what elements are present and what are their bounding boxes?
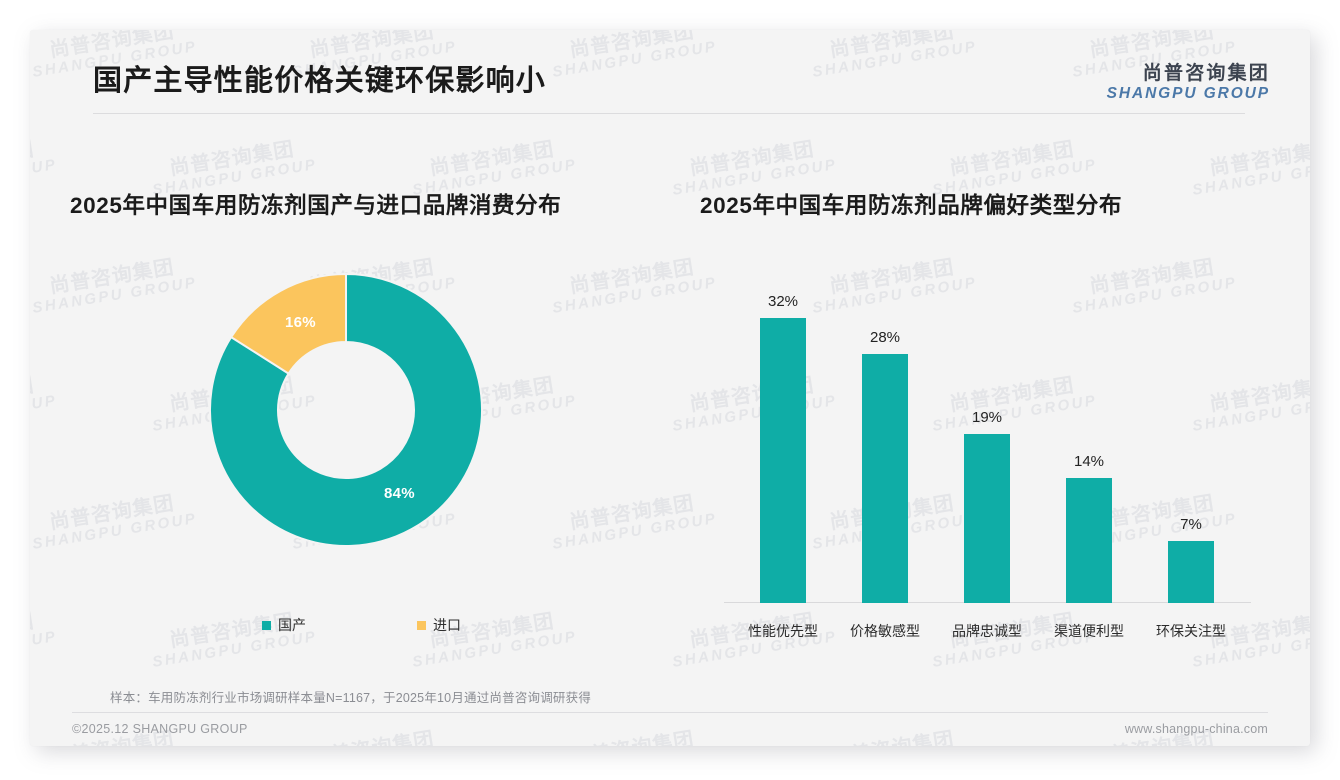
- bar-category-slot: 渠道便利型: [1038, 605, 1140, 665]
- bar-column: 7%: [1140, 265, 1242, 603]
- slide-header: 国产主导性能价格关键环保影响小 尚普咨询集团 SHANGPU GROUP: [30, 30, 1310, 120]
- bar-category-label: 环保关注型: [1140, 621, 1242, 641]
- charts-area: 2025年中国车用防冻剂国产与进口品牌消费分布 84%16% 国产进口 2025…: [30, 160, 1310, 680]
- donut-chart: 84%16%: [206, 270, 486, 550]
- donut-chart-svg: [206, 270, 486, 550]
- chart-panel-bars: 2025年中国车用防冻剂品牌偏好类型分布 32%性能优先型28%价格敏感型19%…: [690, 160, 1270, 680]
- bar-column: 14%: [1038, 265, 1140, 603]
- donut-chart-title: 2025年中国车用防冻剂国产与进口品牌消费分布: [70, 188, 561, 220]
- donut-value-label-国产: 84%: [384, 485, 415, 502]
- bar-品牌忠诚型[interactable]: [964, 434, 1010, 603]
- sample-footnote: 样本：车用防冻剂行业市场调研样本量N=1167，于2025年10月通过尚普咨询调…: [110, 687, 591, 706]
- bar-category-slot: 性能优先型: [732, 605, 834, 665]
- bar-category-slot: 价格敏感型: [834, 605, 936, 665]
- bar-category-label: 渠道便利型: [1038, 621, 1140, 641]
- brand-logo: 尚普咨询集团 SHANGPU GROUP: [1107, 63, 1270, 102]
- legend-swatch-icon: [417, 621, 426, 630]
- bar-value-label: 28%: [834, 329, 936, 346]
- bar-渠道便利型[interactable]: [1066, 478, 1112, 603]
- bar-column: 28%: [834, 265, 936, 603]
- bar-性能优先型[interactable]: [760, 318, 806, 603]
- bar-category-slot: 环保关注型: [1140, 605, 1242, 665]
- bar-column: 19%: [936, 265, 1038, 603]
- bar-category-label: 品牌忠诚型: [936, 621, 1038, 641]
- bar-value-label: 32%: [732, 293, 834, 310]
- legend-label: 国产: [278, 615, 306, 635]
- bar-chart-title: 2025年中国车用防冻剂品牌偏好类型分布: [700, 188, 1122, 220]
- chart-panel-donut: 2025年中国车用防冻剂国产与进口品牌消费分布 84%16% 国产进口: [70, 160, 670, 680]
- slide-card: 尚普咨询集团SHANGPU GROUP尚普咨询集团SHANGPU GROUP尚普…: [30, 30, 1310, 746]
- slide-footer: ©2025.12 SHANGPU GROUP www.shangpu-china…: [30, 713, 1310, 746]
- bar-category-slot: 品牌忠诚型: [936, 605, 1038, 665]
- copyright-text: ©2025.12 SHANGPU GROUP: [72, 722, 248, 736]
- website-link[interactable]: www.shangpu-china.com: [1125, 722, 1268, 736]
- brand-name-cn: 尚普咨询集团: [1107, 63, 1270, 85]
- bar-category-label: 性能优先型: [732, 621, 834, 641]
- bar-价格敏感型[interactable]: [862, 354, 908, 603]
- legend-swatch-icon: [262, 621, 271, 630]
- bar-column: 32%: [732, 265, 834, 603]
- bar-环保关注型[interactable]: [1168, 541, 1214, 603]
- donut-value-label-进口: 16%: [285, 314, 316, 331]
- brand-name-en: SHANGPU GROUP: [1107, 85, 1270, 103]
- bar-value-label: 7%: [1140, 516, 1242, 533]
- bar-category-label: 价格敏感型: [834, 621, 936, 641]
- legend-item-进口[interactable]: 进口: [417, 615, 461, 635]
- legend-label: 进口: [433, 615, 461, 635]
- header-divider: [93, 113, 1245, 114]
- bar-value-label: 14%: [1038, 453, 1140, 470]
- legend-item-国产[interactable]: 国产: [262, 615, 306, 635]
- page-title: 国产主导性能价格关键环保影响小: [93, 57, 546, 99]
- bar-chart: 32%性能优先型28%价格敏感型19%品牌忠诚型14%渠道便利型7%环保关注型: [724, 265, 1254, 665]
- bar-value-label: 19%: [936, 409, 1038, 426]
- donut-chart-legend: 国产进口: [262, 615, 562, 637]
